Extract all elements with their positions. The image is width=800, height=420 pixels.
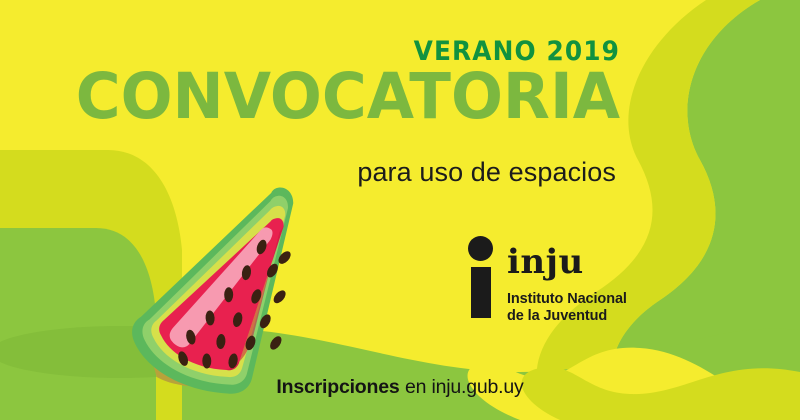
- watermelon-slice-icon: [118, 178, 348, 403]
- headline-subtitle: para uso de espacios: [0, 158, 616, 188]
- inju-tagline: Instituto Nacional de la Juventud: [507, 291, 627, 325]
- inju-i-mark-icon: [466, 236, 496, 318]
- inju-logo: inju Instituto Nacional de la Juventud: [466, 236, 646, 330]
- inju-wordmark: inju: [507, 245, 584, 279]
- inju-tagline-line1: Instituto Nacional: [507, 291, 627, 308]
- inju-i-dot-icon: [468, 236, 493, 261]
- footer-label: Inscripciones: [276, 376, 399, 398]
- inju-tagline-line2: de la Juventud: [507, 308, 627, 325]
- headline-group: VERANO 2019 CONVOCATORIA: [0, 38, 620, 127]
- inju-i-stem-icon: [471, 267, 491, 318]
- footer-cta: Inscripciones en inju.gub.uy: [0, 378, 800, 398]
- footer-detail[interactable]: en inju.gub.uy: [405, 376, 524, 398]
- page-title: CONVOCATORIA: [19, 67, 620, 127]
- poster-canvas: VERANO 2019 CONVOCATORIA para uso de esp…: [0, 0, 800, 420]
